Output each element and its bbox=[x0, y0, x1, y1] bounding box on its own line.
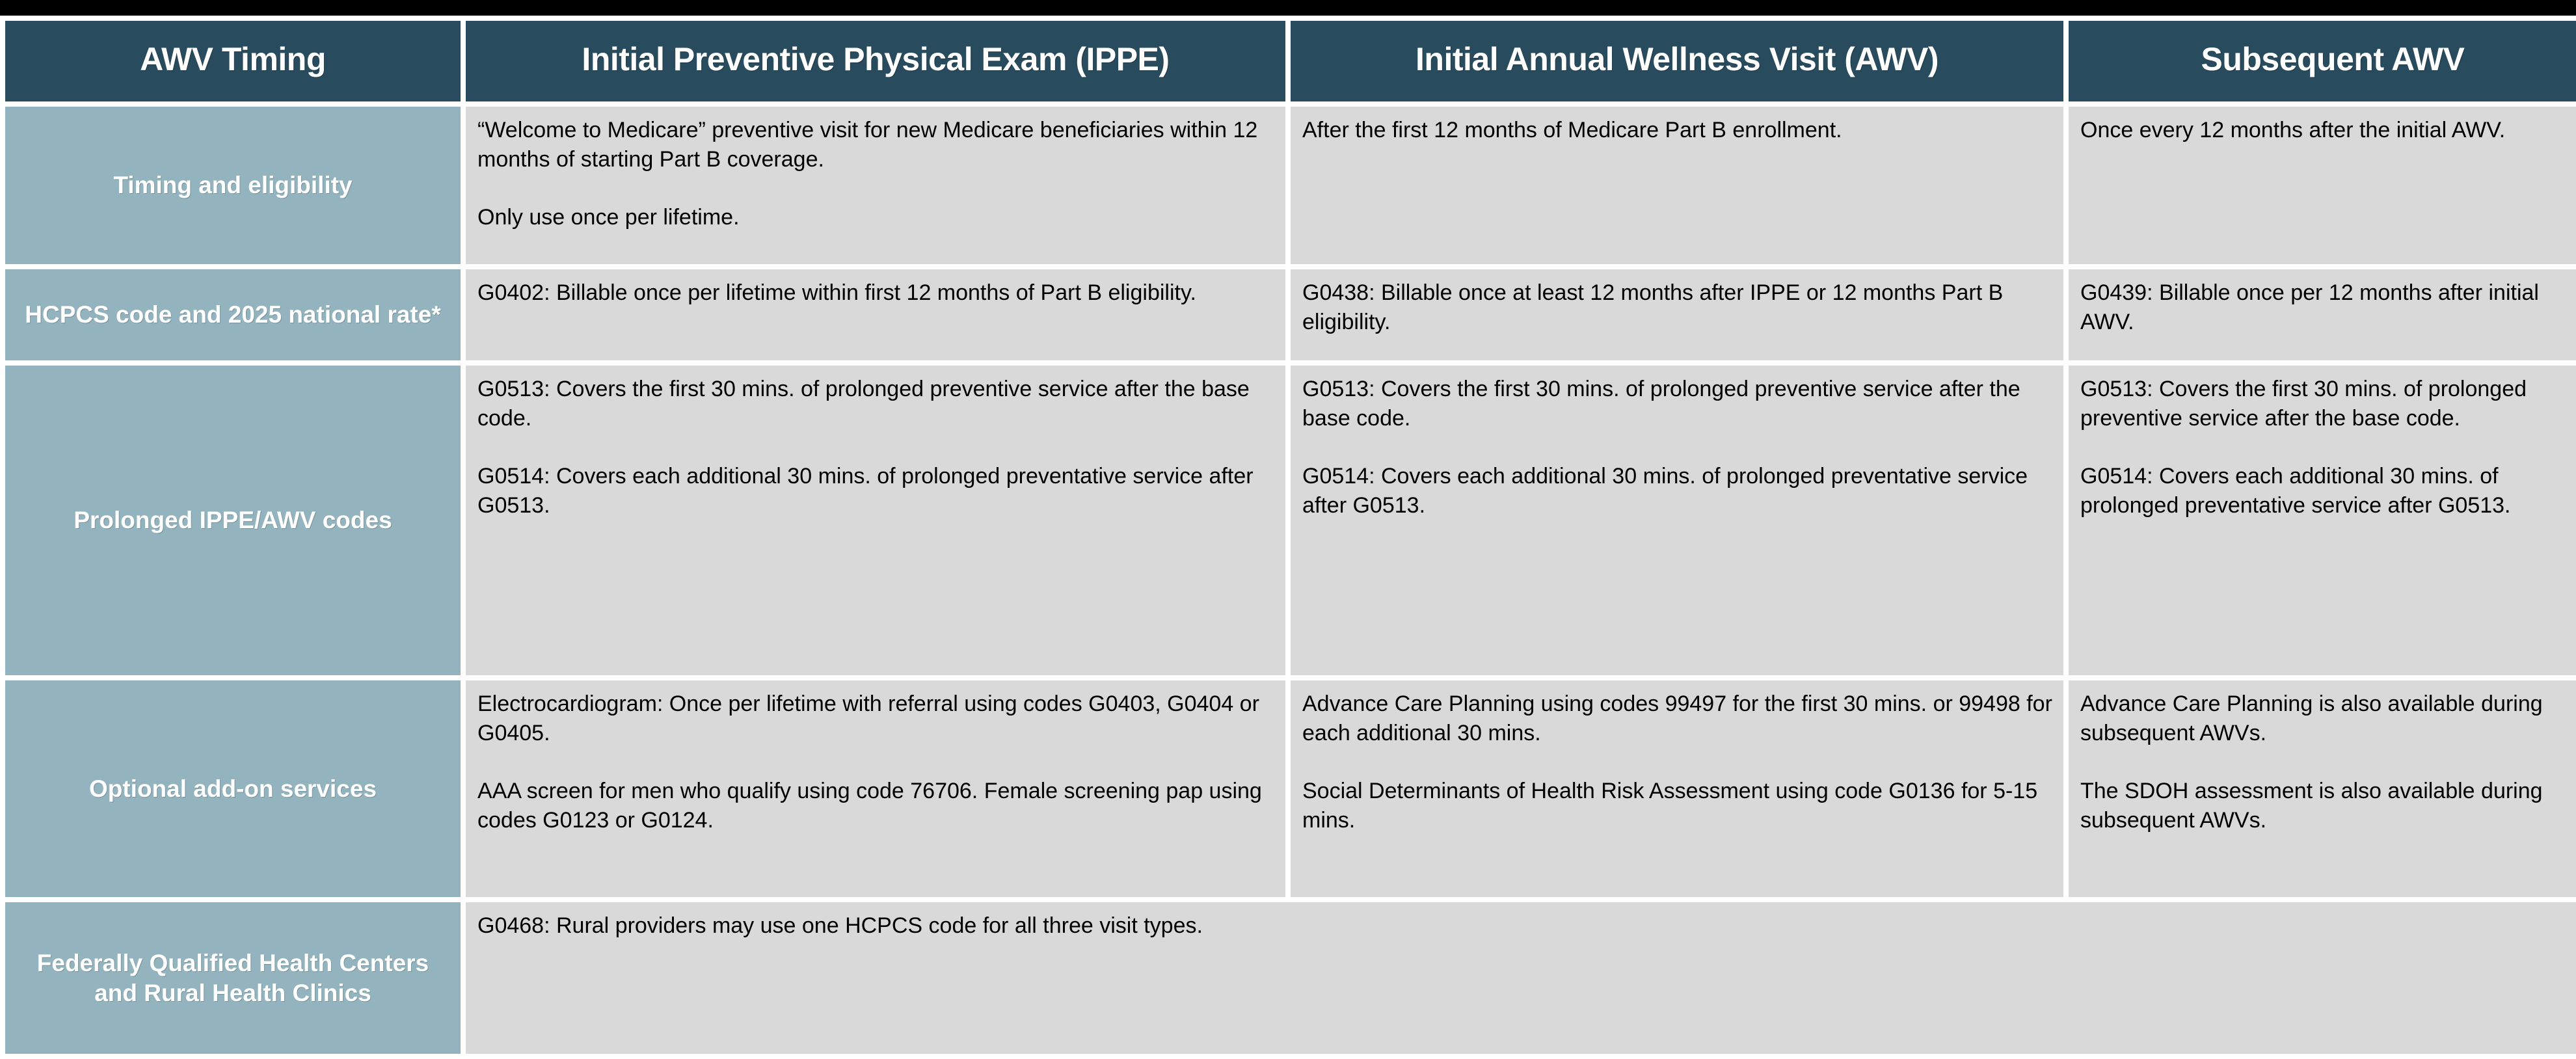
row-label-prolonged-codes: Prolonged IPPE/AWV codes bbox=[5, 366, 461, 675]
cell-paragraph: G0438: Billable once at least 12 months … bbox=[1302, 278, 2053, 337]
cell-paragraph: After the first 12 months of Medicare Pa… bbox=[1302, 116, 2053, 145]
cell-paragraph: G0513: Covers the first 30 mins. of prol… bbox=[1302, 375, 2053, 433]
cell-hcpcs-ippe: G0402: Billable once per lifetime within… bbox=[466, 269, 1285, 360]
row-label-optional-addons: Optional add-on services bbox=[5, 680, 461, 897]
cell-paragraph: Advance Care Planning using codes 99497 … bbox=[1302, 690, 2053, 748]
table-row: HCPCS code and 2025 national rate* G0402… bbox=[5, 269, 2576, 360]
column-header-initial-awv: Initial Annual Wellness Visit (AWV) bbox=[1291, 21, 2063, 101]
header-row: AWV Timing Initial Preventive Physical E… bbox=[5, 21, 2576, 101]
cell-paragraph: The SDOH assessment is also available du… bbox=[2080, 777, 2576, 835]
table-body: Timing and eligibility “Welcome to Medic… bbox=[5, 107, 2576, 1054]
cell-prolonged-initial-awv: G0513: Covers the first 30 mins. of prol… bbox=[1291, 366, 2063, 675]
row-label-hcpcs-rate: HCPCS code and 2025 national rate* bbox=[5, 269, 461, 360]
cell-prolonged-ippe: G0513: Covers the first 30 mins. of prol… bbox=[466, 366, 1285, 675]
cell-hcpcs-initial-awv: G0438: Billable once at least 12 months … bbox=[1291, 269, 2063, 360]
awv-comparison-table: AWV Timing Initial Preventive Physical E… bbox=[0, 16, 2576, 1059]
row-label-timing-eligibility: Timing and eligibility bbox=[5, 107, 461, 264]
cell-paragraph: Electrocardiogram: Once per lifetime wit… bbox=[477, 690, 1275, 748]
cell-hcpcs-subsequent-awv: G0439: Billable once per 12 months after… bbox=[2069, 269, 2576, 360]
cell-paragraph: Advance Care Planning is also available … bbox=[2080, 690, 2576, 748]
cell-addon-initial-awv: Advance Care Planning using codes 99497 … bbox=[1291, 680, 2063, 897]
cell-addon-ippe: Electrocardiogram: Once per lifetime wit… bbox=[466, 680, 1285, 897]
cell-paragraph: Once every 12 months after the initial A… bbox=[2080, 116, 2576, 145]
cell-timing-ippe: “Welcome to Medicare” preventive visit f… bbox=[466, 107, 1285, 264]
cell-paragraph: Only use once per lifetime. bbox=[477, 203, 1275, 232]
column-header-subsequent-awv: Subsequent AWV bbox=[2069, 21, 2576, 101]
row-label-fqhc-rhc: Federally Qualified Health Centers and R… bbox=[5, 902, 461, 1054]
table-row: Optional add-on services Electrocardiogr… bbox=[5, 680, 2576, 897]
table-canvas: AWV Timing Initial Preventive Physical E… bbox=[0, 16, 2576, 1031]
cell-addon-subsequent-awv: Advance Care Planning is also available … bbox=[2069, 680, 2576, 897]
cell-paragraph: “Welcome to Medicare” preventive visit f… bbox=[477, 116, 1275, 174]
cell-paragraph: G0402: Billable once per lifetime within… bbox=[477, 278, 1275, 308]
cell-paragraph: G0514: Covers each additional 30 mins. o… bbox=[477, 462, 1275, 520]
table-row: Federally Qualified Health Centers and R… bbox=[5, 902, 2576, 1054]
table-header: AWV Timing Initial Preventive Physical E… bbox=[5, 21, 2576, 101]
cell-fqhc-all-columns: G0468: Rural providers may use one HCPCS… bbox=[466, 902, 2576, 1054]
cell-paragraph: G0514: Covers each additional 30 mins. o… bbox=[1302, 462, 2053, 520]
cell-timing-initial-awv: After the first 12 months of Medicare Pa… bbox=[1291, 107, 2063, 264]
table-row: Prolonged IPPE/AWV codes G0513: Covers t… bbox=[5, 366, 2576, 675]
cell-prolonged-subsequent-awv: G0513: Covers the first 30 mins. of prol… bbox=[2069, 366, 2576, 675]
cell-paragraph: G0514: Covers each additional 30 mins. o… bbox=[2080, 462, 2576, 520]
column-header-ippe: Initial Preventive Physical Exam (IPPE) bbox=[466, 21, 1285, 101]
table-frame: AWV Timing Initial Preventive Physical E… bbox=[0, 0, 2576, 1031]
cell-paragraph: G0468: Rural providers may use one HCPCS… bbox=[477, 911, 2576, 941]
cell-paragraph: G0513: Covers the first 30 mins. of prol… bbox=[477, 375, 1275, 433]
cell-paragraph: G0513: Covers the first 30 mins. of prol… bbox=[2080, 375, 2576, 433]
cell-timing-subsequent-awv: Once every 12 months after the initial A… bbox=[2069, 107, 2576, 264]
cell-paragraph: G0439: Billable once per 12 months after… bbox=[2080, 278, 2576, 337]
cell-paragraph: Social Determinants of Health Risk Asses… bbox=[1302, 777, 2053, 835]
column-header-awv-timing: AWV Timing bbox=[5, 21, 461, 101]
table-row: Timing and eligibility “Welcome to Medic… bbox=[5, 107, 2576, 264]
cell-paragraph: AAA screen for men who qualify using cod… bbox=[477, 777, 1275, 835]
